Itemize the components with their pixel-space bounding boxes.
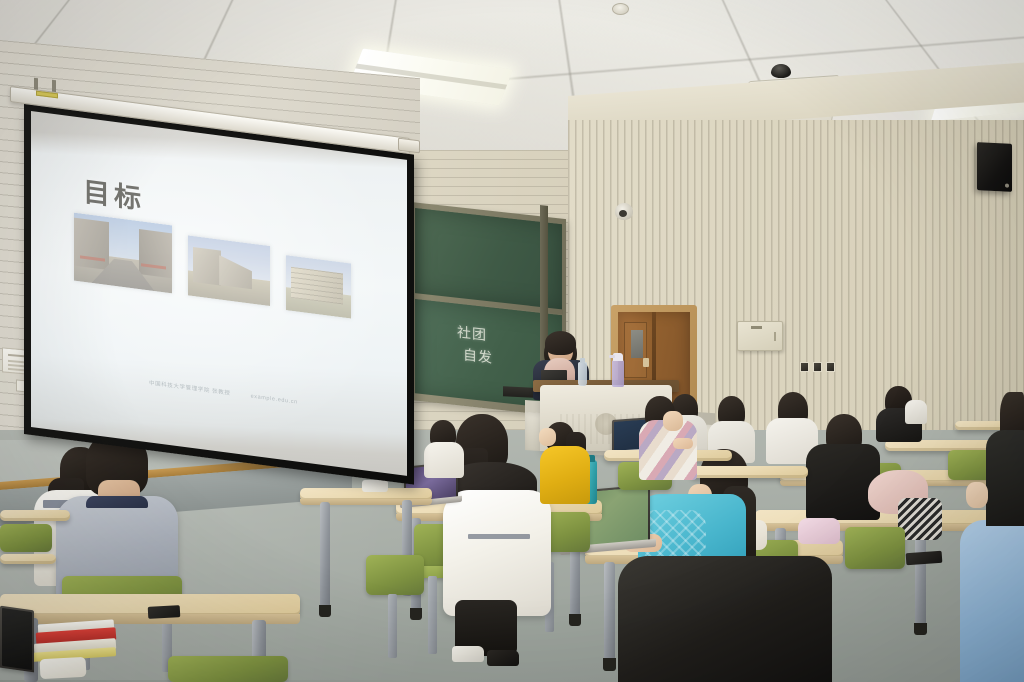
- desk-foot: [319, 605, 331, 617]
- student-body: [806, 444, 880, 520]
- student-collar: [905, 400, 927, 424]
- slide-footer-right: example.edu.cn: [251, 394, 298, 406]
- smartphone[interactable]: [148, 605, 181, 619]
- student-shoe: [452, 646, 484, 662]
- student-laptop[interactable]: [0, 606, 34, 673]
- smoke-detector-icon: [612, 3, 629, 15]
- black-coat-draped: [618, 556, 832, 682]
- door-window: [631, 330, 643, 358]
- electrical-panel-box[interactable]: [737, 321, 783, 351]
- coat-print-text: [468, 534, 530, 539]
- podium-books: [503, 386, 533, 398]
- student-body: [424, 442, 464, 478]
- desk-top: [0, 510, 70, 521]
- door-handle[interactable]: [643, 358, 649, 367]
- student-yellow-hoodie: [540, 446, 590, 504]
- pink-jacket-on-chair: [798, 518, 840, 544]
- student-face: [663, 411, 683, 431]
- screen-housing-end-cap: [398, 138, 420, 154]
- desk-foot: [410, 608, 422, 620]
- student-shoe: [487, 650, 519, 666]
- desk-leg: [915, 530, 926, 630]
- wall-switch-3[interactable]: [826, 362, 835, 372]
- water-bottle[interactable]: [578, 362, 587, 386]
- chair-back[interactable]: [366, 555, 424, 595]
- screen-bracket-right: [52, 80, 56, 93]
- slide-footer-left: 中国科技大学管理学院 张教授: [149, 380, 230, 397]
- smartphone[interactable]: [906, 551, 943, 565]
- chair-leg: [428, 576, 437, 654]
- student-hair-long: [986, 430, 1024, 526]
- tissue-paper: [362, 480, 388, 492]
- slide-image-academic-building: [286, 255, 351, 318]
- chair-back[interactable]: [0, 524, 52, 552]
- wall-speaker-icon: [977, 142, 1012, 192]
- instructor-hair: [545, 331, 576, 355]
- student-white-puffer-coat: [443, 490, 551, 616]
- student-face: [539, 428, 556, 446]
- student-body: [960, 520, 1024, 682]
- spray-bottle[interactable]: [612, 360, 624, 387]
- chair-back[interactable]: [168, 656, 288, 682]
- student-hand: [673, 438, 693, 449]
- slide-image-campus-road: [74, 213, 172, 294]
- desk-foot: [603, 658, 616, 671]
- desk-foot: [569, 614, 581, 626]
- wall-mounted-camera-icon: [615, 203, 633, 220]
- sweatshirt-collar: [86, 496, 148, 508]
- desk-leg: [604, 562, 615, 666]
- slide-image-modern-building: [188, 235, 270, 306]
- projection-screen-surface[interactable]: 目标 中国科技大学管理学院 张教授 example.edu.cn: [31, 111, 407, 476]
- desk-foot: [914, 623, 927, 635]
- desk-leg: [320, 502, 330, 612]
- classroom-scene: 社团 自发 目标 中国科技大学管理学院 张教授: [0, 0, 1024, 682]
- desk-top: [690, 466, 808, 478]
- wall-switch-1[interactable]: [800, 362, 809, 372]
- chair-back[interactable]: [845, 527, 905, 569]
- chalkboard-writing: 社团 自发: [457, 323, 517, 374]
- slide-title: 目标: [83, 170, 145, 217]
- tissue-box: [40, 657, 87, 679]
- chair-leg: [388, 594, 397, 658]
- wall-switch-2[interactable]: [813, 362, 822, 372]
- slide-footer: 中国科技大学管理学院 张教授 example.edu.cn: [149, 378, 339, 411]
- desk-top: [0, 554, 56, 564]
- dome-security-camera-icon: [771, 64, 791, 78]
- student-face: [966, 482, 988, 508]
